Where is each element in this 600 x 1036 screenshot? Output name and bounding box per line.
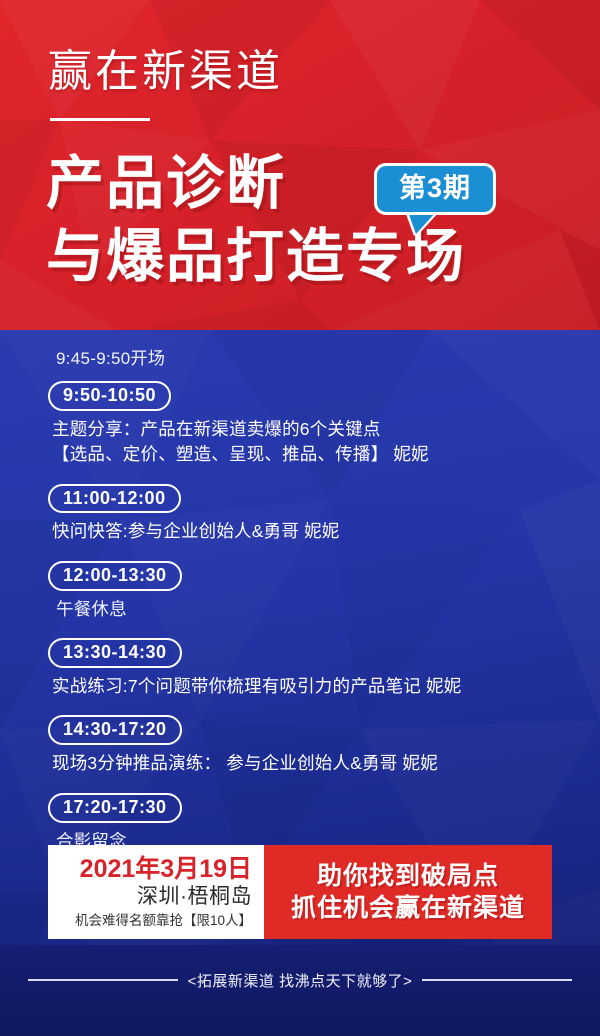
footer-banner: 2021年3月19日 深圳·梧桐岛 机会难得名额靠抢【限10人】 助你找到破局点… bbox=[48, 845, 552, 939]
schedule-desc-2-line-1: 午餐休息 bbox=[0, 597, 600, 622]
tagline-rule-left bbox=[28, 979, 178, 981]
schedule-time-pill-2: 12:00-13:30 bbox=[48, 561, 182, 591]
event-location: 深圳·梧桐岛 bbox=[137, 884, 252, 909]
edition-badge-label: 第3期 bbox=[399, 175, 471, 204]
brand-title: 赢在新渠道 bbox=[48, 50, 283, 94]
schedule-desc-3-line-1: 实战练习:7个问题带你梳理有吸引力的产品笔记 妮妮 bbox=[0, 674, 600, 699]
schedule-desc-1-line-1: 快问快答:参与企业创始人&勇哥 妮妮 bbox=[0, 519, 600, 544]
slogan-line-1: 助你找到破局点 bbox=[317, 862, 499, 891]
event-date: 2021年3月19日 bbox=[80, 855, 252, 883]
schedule-item-4: 14:30-17:20 现场3分钟推品演练： 参与企业创始人&勇哥 妮妮 bbox=[0, 715, 600, 776]
schedule-item-2: 12:00-13:30 午餐休息 bbox=[0, 561, 600, 622]
schedule-time-pill-3: 13:30-14:30 bbox=[48, 638, 182, 668]
poster-header: 赢在新渠道 产品诊断 与爆品打造专场 第3期 bbox=[0, 0, 600, 332]
schedule-item-1: 11:00-12:00 快问快答:参与企业创始人&勇哥 妮妮 bbox=[0, 484, 600, 545]
edition-badge: 第3期 bbox=[374, 163, 496, 215]
headline-line-1: 产品诊断 bbox=[46, 155, 286, 213]
edition-badge-body: 第3期 bbox=[374, 163, 496, 215]
schedule-time-pill-1: 11:00-12:00 bbox=[48, 484, 181, 514]
schedule-desc-0-line-1: 主题分享：产品在新渠道卖爆的6个关键点 bbox=[0, 417, 600, 442]
event-seats-note: 机会难得名额靠抢【限10人】 bbox=[75, 913, 252, 929]
footer-tagline: <拓展新渠道 找沸点天下就够了> bbox=[0, 963, 600, 997]
schedule-item-0: 9:50-10:50 主题分享：产品在新渠道卖爆的6个关键点 【选品、定价、塑造… bbox=[0, 381, 600, 468]
schedule-item-3: 13:30-14:30 实战练习:7个问题带你梳理有吸引力的产品笔记 妮妮 bbox=[0, 638, 600, 699]
tagline-rule-right bbox=[422, 979, 572, 981]
brand-underline bbox=[50, 118, 150, 121]
schedule-time-pill-0: 9:50-10:50 bbox=[48, 381, 171, 411]
schedule-desc-4-line-1: 现场3分钟推品演练： 参与企业创始人&勇哥 妮妮 bbox=[0, 751, 600, 776]
schedule-time-pill-4: 14:30-17:20 bbox=[48, 715, 182, 745]
schedule-list: 9:45-9:50开场 9:50-10:50 主题分享：产品在新渠道卖爆的6个关… bbox=[0, 348, 600, 856]
speech-bubble-tail-icon bbox=[408, 212, 436, 234]
footer-info-block: 2021年3月19日 深圳·梧桐岛 机会难得名额靠抢【限10人】 bbox=[48, 845, 264, 939]
schedule-time-pill-5: 17:20-17:30 bbox=[48, 793, 182, 823]
headline-line-2: 与爆品打造专场 bbox=[46, 228, 466, 286]
schedule-opening: 9:45-9:50开场 bbox=[0, 348, 600, 371]
event-poster: 赢在新渠道 产品诊断 与爆品打造专场 第3期 9:45-9:50开场 bbox=[0, 0, 600, 1036]
slogan-line-2: 抓住机会赢在新渠道 bbox=[291, 894, 525, 923]
footer-slogan-block: 助你找到破局点 抓住机会赢在新渠道 bbox=[264, 845, 552, 939]
schedule-desc-0-line-2: 【选品、定价、塑造、呈现、推品、传播】 妮妮 bbox=[0, 442, 600, 467]
tagline-text: <拓展新渠道 找沸点天下就够了> bbox=[188, 970, 413, 991]
